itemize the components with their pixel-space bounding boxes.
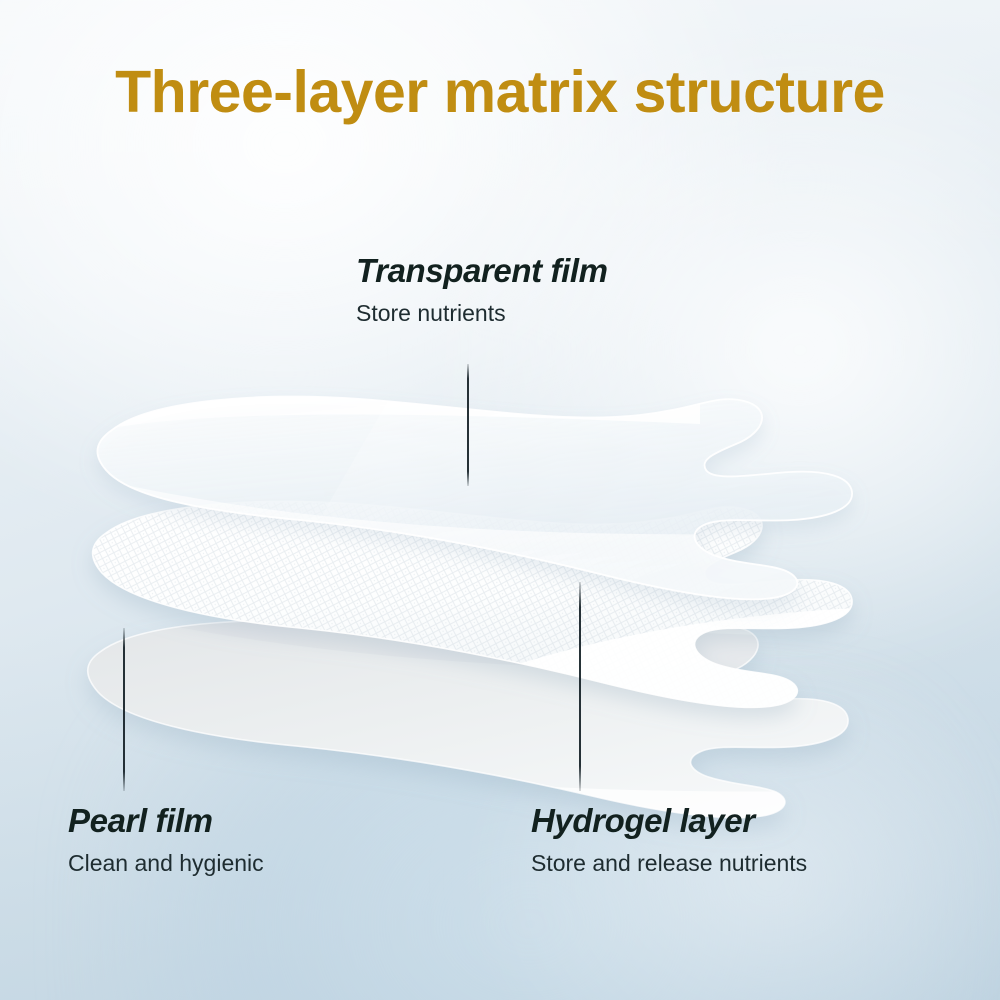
- callout-subtitle-transparent-film: Store nutrients: [356, 301, 608, 326]
- callout-subtitle-pearl-film: Clean and hygienic: [68, 851, 264, 876]
- leader-line-transparent-film: [467, 364, 469, 486]
- diagram-canvas: Three-layer matrix structure: [0, 0, 1000, 1000]
- callout-heading-transparent-film: Transparent film: [356, 253, 608, 289]
- callout-subtitle-hydrogel-layer: Store and release nutrients: [531, 851, 807, 876]
- callout-heading-hydrogel-layer: Hydrogel layer: [531, 803, 807, 839]
- callout-transparent-film: Transparent film Store nutrients: [356, 253, 608, 327]
- page-title: Three-layer matrix structure: [0, 58, 1000, 126]
- leader-line-hydrogel-layer: [579, 582, 581, 791]
- callout-pearl-film: Pearl film Clean and hygienic: [68, 803, 264, 877]
- leader-line-pearl-film: [123, 628, 125, 791]
- callout-heading-pearl-film: Pearl film: [68, 803, 264, 839]
- callout-hydrogel-layer: Hydrogel layer Store and release nutrien…: [531, 803, 807, 877]
